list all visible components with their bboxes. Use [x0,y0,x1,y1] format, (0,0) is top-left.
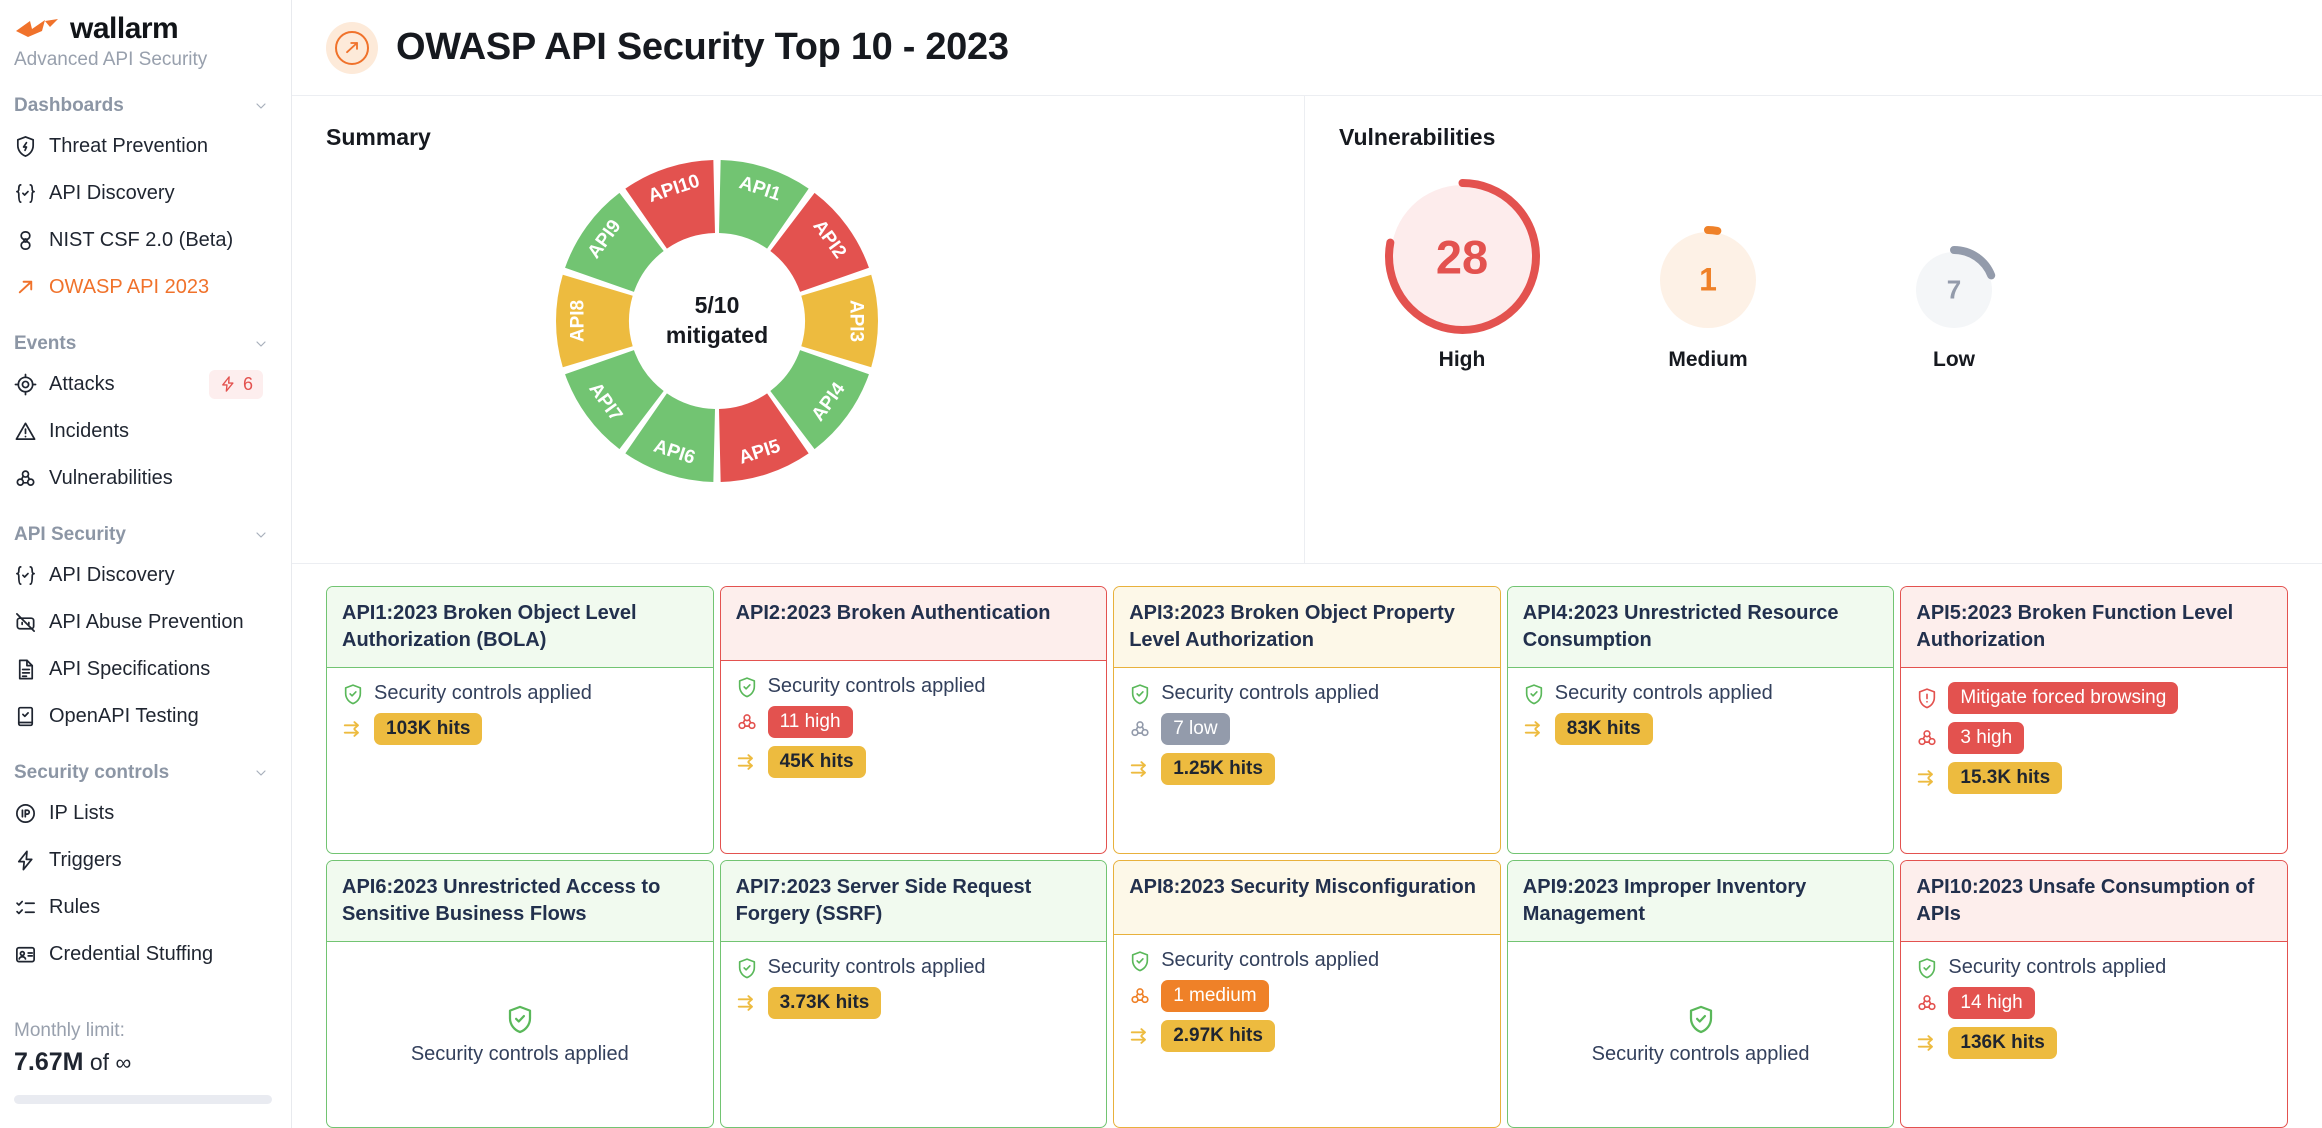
app-root: wallarm Advanced API Security Dashboards… [0,0,2322,1128]
sidebar-item-credential-stuffing[interactable]: Credential Stuffing [0,931,291,978]
card-title: API8:2023 Security Misconfiguration [1129,874,1485,901]
card-badge-hits[interactable]: 1.25K hits [1161,753,1275,785]
card-row: Security controls applied [736,956,1092,979]
card-title: API6:2023 Unrestricted Access to Sensiti… [342,874,698,928]
card-row: 15.3K hits [1916,762,2272,794]
monthly-limit-value: 7.67M of ∞ [14,1048,276,1077]
monthly-limit-label: Monthly limit: [14,1020,276,1042]
card-badge-hits[interactable]: 45K hits [768,746,866,778]
card-header: API8:2023 Security Misconfiguration [1114,861,1500,935]
summary-title: Summary [326,124,1304,151]
brand[interactable]: wallarm [0,0,291,44]
sidebar-item-label: IP Lists [49,802,114,825]
sidebar-item-threat-prevention[interactable]: Threat Prevention [0,123,291,170]
card-empty-text: Security controls applied [411,1040,629,1068]
card-row: 1.25K hits [1129,753,1485,785]
card-row: 103K hits [342,713,698,745]
sidebar-item-label: Rules [49,896,100,919]
robot-off-icon [14,611,37,634]
sidebar-item-label: OWASP API 2023 [49,276,209,299]
shield-alert-icon [1916,687,1938,709]
checklist-icon [14,896,37,919]
shield-check-icon [736,957,758,979]
card-badge-medium[interactable]: 1 medium [1161,980,1268,1012]
wallarm-logo-icon [14,18,60,40]
sidebar-group-dashboards[interactable]: Dashboards [0,89,291,123]
vulnerability-gauges: 28High1Medium7Low [1339,151,2322,372]
monthly-limit: Monthly limit: 7.67M of ∞ [14,1020,276,1104]
shield-check-icon [1686,1004,1716,1034]
card-body: Security controls applied3.73K hits [721,942,1107,1127]
book-check-icon [14,705,37,728]
owasp-cards-grid: API1:2023 Broken Object Level Authorizat… [292,564,2322,1128]
sidebar-item-label: OpenAPI Testing [49,705,199,728]
biohazard-icon [1129,985,1151,1007]
ip-circle-icon [14,802,37,825]
card-header: API4:2023 Unrestricted Resource Consumpt… [1508,587,1894,668]
shield-check-icon [1129,683,1151,705]
brand-tagline: Advanced API Security [0,44,291,73]
donut-segment-label: API3 [845,300,866,342]
card-badge-hits[interactable]: 83K hits [1555,713,1653,745]
owasp-card-api1[interactable]: API1:2023 Broken Object Level Authorizat… [326,586,714,854]
card-badge-hits[interactable]: 2.97K hits [1161,1020,1275,1052]
card-row: 136K hits [1916,1027,2272,1059]
card-header: API5:2023 Broken Function Level Authoriz… [1901,587,2287,668]
sidebar-item-label: API Abuse Prevention [49,611,244,634]
sidebar-item-label: Attacks [49,373,115,396]
card-header: API3:2023 Broken Object Property Level A… [1114,587,1500,668]
sidebar-item-badge[interactable]: 6 [209,370,263,399]
biohazard-icon [1916,727,1938,749]
biohazard-icon [14,467,37,490]
card-row: 1 medium [1129,980,1485,1012]
hits-arrows-icon [1129,1025,1151,1047]
card-empty-state: Security controls applied [1523,956,1879,1115]
nist-pinwheel-icon [14,229,37,252]
sidebar-item-api-discovery[interactable]: API Discovery [0,170,291,217]
card-body: Security controls applied [327,942,713,1127]
sidebar-item-label: API Specifications [49,658,210,681]
hits-arrows-icon [1916,767,1938,789]
donut-center-line1: 5/10 [666,291,768,321]
biohazard-icon [736,711,758,733]
card-row: Mitigate forced browsing [1916,682,2272,714]
card-badge-hits[interactable]: 15.3K hits [1948,762,2062,794]
card-row-text: Security controls applied [1555,682,1773,705]
bolt-icon [14,849,37,872]
sidebar-item-label: Threat Prevention [49,135,208,158]
card-body: Security controls applied1 medium2.97K h… [1114,935,1500,1127]
card-row: Security controls applied [342,682,698,705]
card-row: 2.97K hits [1129,1020,1485,1052]
shield-check-icon [1129,950,1151,972]
sidebar-item-label: Credential Stuffing [49,943,213,966]
hits-arrows-icon [1129,758,1151,780]
sidebar-group-label: Security controls [14,762,169,784]
shield-check-icon [342,683,364,705]
owasp-card-api7[interactable]: API7:2023 Server Side Request Forgery (S… [720,860,1108,1128]
sidebar-item-api-abuse-prevention[interactable]: API Abuse Prevention [0,599,291,646]
biohazard-icon [1916,992,1938,1014]
shield-check-icon [1523,683,1545,705]
card-row: 14 high [1916,987,2272,1019]
card-badge-hits[interactable]: 3.73K hits [768,987,882,1019]
owasp-card-api3[interactable]: API3:2023 Broken Object Property Level A… [1113,586,1501,854]
badge-count: 6 [243,374,253,395]
monthly-limit-progressbar [14,1095,272,1104]
sidebar-group-label: API Security [14,524,126,546]
sidebar-nav: DashboardsThreat PreventionAPI Discovery… [0,89,291,978]
chevron-down-icon [253,336,269,352]
gauge-low[interactable]: 7Low [1831,246,2077,372]
donut-center-line2: mitigated [666,321,768,351]
card-title: API7:2023 Server Side Request Forgery (S… [736,874,1092,928]
arrow-up-right-icon [14,276,37,299]
sidebar-item-label: API Discovery [49,564,175,587]
card-title: API3:2023 Broken Object Property Level A… [1129,600,1485,654]
card-row: 45K hits [736,746,1092,778]
id-card-icon [14,943,37,966]
braces-check-icon [14,182,37,205]
chevron-down-icon [253,527,269,543]
card-header: API9:2023 Improper Inventory Management [1508,861,1894,942]
card-row: Security controls applied [1523,682,1879,705]
card-row: 11 high [736,706,1092,738]
sidebar-item-label: NIST CSF 2.0 (Beta) [49,229,233,252]
card-title: API5:2023 Broken Function Level Authoriz… [1916,600,2272,654]
card-badge-high[interactable]: 11 high [768,706,853,738]
sidebar-item-label: Triggers [49,849,122,872]
sidebar-item-owasp-api-2023[interactable]: OWASP API 2023 [0,264,291,311]
card-row-text: Security controls applied [768,956,986,979]
card-title: API4:2023 Unrestricted Resource Consumpt… [1523,600,1879,654]
card-row-text: Security controls applied [1161,682,1379,705]
sidebar-item-vulnerabilities[interactable]: Vulnerabilities [0,455,291,502]
card-badge-action[interactable]: Mitigate forced browsing [1948,682,2178,714]
chevron-down-icon [253,98,269,114]
summary-panel: Summary API1API2API3API4API5API6API7API8… [292,96,1305,563]
card-body: Security controls applied103K hits [327,668,713,853]
sidebar-item-triggers[interactable]: Triggers [0,837,291,884]
donut-center-label: 5/10 mitigated [666,291,768,351]
gauge-value: 1 [1654,262,1762,299]
card-header: API2:2023 Broken Authentication [721,587,1107,661]
card-row: 83K hits [1523,713,1879,745]
card-row-text: Security controls applied [374,682,592,705]
hits-arrows-icon [342,718,364,740]
card-title: API1:2023 Broken Object Level Authorizat… [342,600,698,654]
card-badge-high[interactable]: 3 high [1948,722,2024,754]
owasp-card-api2[interactable]: API2:2023 Broken AuthenticationSecurity … [720,586,1108,854]
card-header: API6:2023 Unrestricted Access to Sensiti… [327,861,713,942]
card-row: 7 low [1129,713,1485,745]
owasp-card-api4[interactable]: API4:2023 Unrestricted Resource Consumpt… [1507,586,1895,854]
sidebar-item-label: API Discovery [49,182,175,205]
donut-segment-label: API8 [568,300,589,342]
monthly-limit-used: 7.67M [14,1048,83,1076]
card-header: API7:2023 Server Side Request Forgery (S… [721,861,1107,942]
sidebar: wallarm Advanced API Security Dashboards… [0,0,292,1128]
card-row: Security controls applied [1916,956,2272,979]
gauge-medium[interactable]: 1Medium [1585,226,1831,372]
hits-arrows-icon [736,751,758,773]
card-body: Mitigate forced browsing3 high15.3K hits [1901,668,2287,853]
card-body: Security controls applied14 high136K hit… [1901,942,2287,1127]
page-header: OWASP API Security Top 10 - 2023 [292,0,2322,96]
owasp-arrow-icon [326,22,378,74]
shield-bolt-icon [14,135,37,158]
owasp-donut-chart[interactable]: API1API2API3API4API5API6API7API8API9API1… [552,156,882,486]
card-header: API1:2023 Broken Object Level Authorizat… [327,587,713,668]
warning-triangle-icon [14,420,37,443]
sidebar-group-api-security[interactable]: API Security [0,518,291,552]
sidebar-item-incidents[interactable]: Incidents [0,408,291,455]
shield-check-icon [736,676,758,698]
sidebar-group-security-controls[interactable]: Security controls [0,756,291,790]
document-icon [14,658,37,681]
vulnerabilities-panel: Vulnerabilities 28High1Medium7Low [1305,96,2322,563]
bolt-icon [219,375,237,393]
braces-check-icon [14,564,37,587]
card-empty-state: Security controls applied [342,956,698,1115]
card-row: 3.73K hits [736,987,1092,1019]
sidebar-group-events[interactable]: Events [0,327,291,361]
card-row-text: Security controls applied [768,675,986,698]
monthly-limit-max: ∞ [115,1050,131,1075]
sidebar-item-api-specifications[interactable]: API Specifications [0,646,291,693]
gauge-label: High [1339,348,1585,372]
sidebar-item-openapi-testing[interactable]: OpenAPI Testing [0,693,291,740]
card-row: Security controls applied [736,675,1092,698]
card-row: 3 high [1916,722,2272,754]
owasp-card-api5[interactable]: API5:2023 Broken Function Level Authoriz… [1900,586,2288,854]
gauge-label: Medium [1585,348,1831,372]
target-icon [14,373,37,396]
card-badge-hits[interactable]: 103K hits [374,713,482,745]
card-empty-text: Security controls applied [1592,1040,1810,1068]
gauge-label: Low [1831,348,2077,372]
card-badge-low[interactable]: 7 low [1161,713,1229,745]
sidebar-group-label: Events [14,333,76,355]
card-row: Security controls applied [1129,682,1485,705]
card-title: API2:2023 Broken Authentication [736,600,1092,627]
sidebar-item-ip-lists[interactable]: IP Lists [0,790,291,837]
card-badge-hits[interactable]: 136K hits [1948,1027,2056,1059]
sidebar-item-label: Incidents [49,420,129,443]
card-body: Security controls applied83K hits [1508,668,1894,853]
card-row-text: Security controls applied [1161,949,1379,972]
brand-name: wallarm [70,14,178,44]
owasp-card-api8[interactable]: API8:2023 Security MisconfigurationSecur… [1113,860,1501,1128]
owasp-card-api9[interactable]: API9:2023 Improper Inventory ManagementS… [1507,860,1895,1128]
vulnerabilities-title: Vulnerabilities [1339,124,2322,151]
owasp-card-api6[interactable]: API6:2023 Unrestricted Access to Sensiti… [326,860,714,1128]
sidebar-item-attacks[interactable]: Attacks6 [0,361,291,408]
sidebar-item-rules[interactable]: Rules [0,884,291,931]
gauge-high[interactable]: 28High [1339,179,1585,372]
card-row-text: Security controls applied [1948,956,2166,979]
card-body: Security controls applied [1508,942,1894,1127]
sidebar-item-nist-csf-2-0-beta[interactable]: NIST CSF 2.0 (Beta) [0,217,291,264]
monthly-limit-of: of [90,1049,109,1075]
shield-check-icon [505,1004,535,1034]
top-panels: Summary API1API2API3API4API5API6API7API8… [292,96,2322,564]
gauge-value: 7 [1910,275,1998,306]
sidebar-item-label: Vulnerabilities [49,467,173,490]
owasp-card-api10[interactable]: API10:2023 Unsafe Consumption of APIsSec… [1900,860,2288,1128]
page-title: OWASP API Security Top 10 - 2023 [396,26,1009,69]
sidebar-group-label: Dashboards [14,95,124,117]
card-body: Security controls applied7 low1.25K hits [1114,668,1500,853]
gauge-value: 28 [1385,229,1540,284]
card-header: API10:2023 Unsafe Consumption of APIs [1901,861,2287,942]
card-title: API10:2023 Unsafe Consumption of APIs [1916,874,2272,928]
hits-arrows-icon [1523,718,1545,740]
biohazard-icon [1129,718,1151,740]
chevron-down-icon [253,765,269,781]
card-title: API9:2023 Improper Inventory Management [1523,874,1879,928]
hits-arrows-icon [1916,1032,1938,1054]
card-row: Security controls applied [1129,949,1485,972]
card-body: Security controls applied11 high45K hits [721,661,1107,853]
shield-check-icon [1916,957,1938,979]
sidebar-item-api-discovery[interactable]: API Discovery [0,552,291,599]
hits-arrows-icon [736,992,758,1014]
card-badge-high[interactable]: 14 high [1948,987,2034,1019]
main-content: OWASP API Security Top 10 - 2023 Summary… [292,0,2322,1128]
